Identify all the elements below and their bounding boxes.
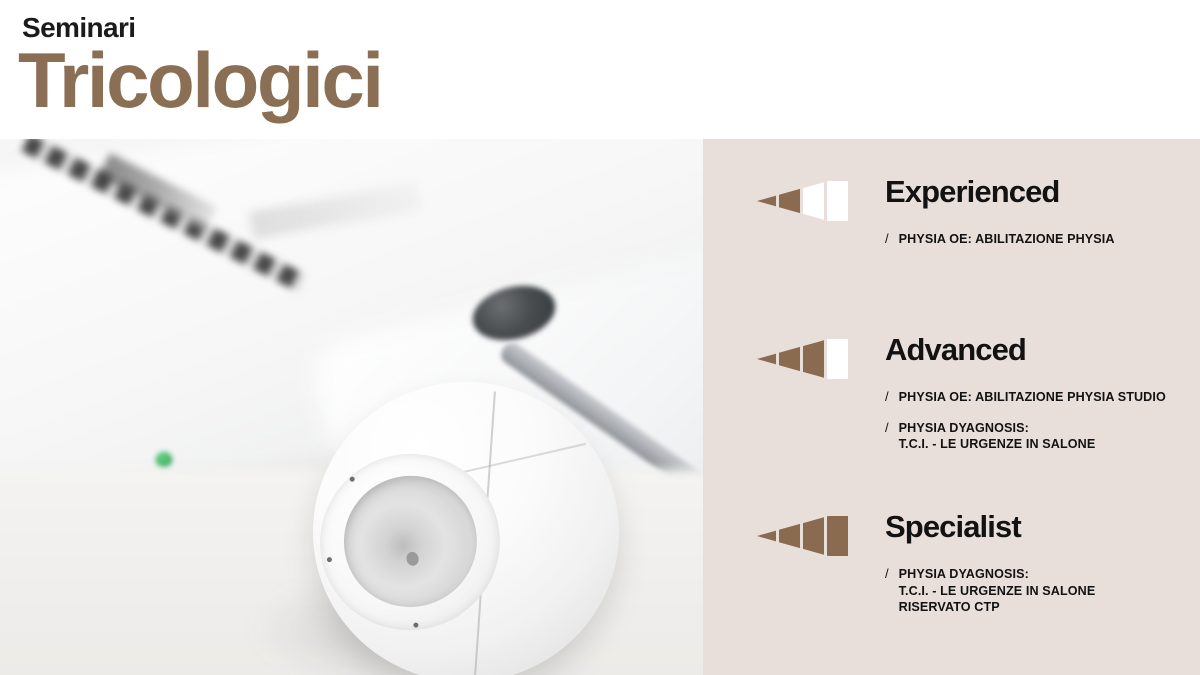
- level-title: Experienced: [885, 175, 1059, 209]
- level-block-specialist: Specialist / PHYSIA DYAGNOSIS: T.C.I. - …: [703, 514, 1200, 560]
- level-title: Specialist: [885, 510, 1021, 544]
- item-bullet: /: [885, 420, 889, 436]
- levels-panel: Experienced / PHYSIA OE: ABILITAZIONE PH…: [703, 139, 1200, 675]
- bezel-screw: [413, 622, 419, 628]
- product-photo: [0, 139, 703, 675]
- item-line: PHYSIA DYAGNOSIS:: [899, 420, 1096, 437]
- item-line: T.C.I. - LE URGENZE IN SALONE: [899, 583, 1096, 600]
- item-text: PHYSIA OE: ABILITAZIONE PHYSIA: [899, 231, 1115, 248]
- item-line: T.C.I. - LE URGENZE IN SALONE: [899, 436, 1096, 453]
- level-block-advanced: Advanced / PHYSIA OE: ABILITAZIONE PHYSI…: [703, 337, 1200, 383]
- item-text: PHYSIA DYAGNOSIS: T.C.I. - LE URGENZE IN…: [899, 420, 1096, 453]
- item-line: PHYSIA OE: ABILITAZIONE PHYSIA STUDIO: [899, 389, 1166, 406]
- item-text: PHYSIA OE: ABILITAZIONE PHYSIA STUDIO: [899, 389, 1166, 406]
- level-item-list: / PHYSIA OE: ABILITAZIONE PHYSIA: [885, 231, 1195, 262]
- list-item: / PHYSIA OE: ABILITAZIONE PHYSIA STUDIO: [885, 389, 1195, 406]
- lens-center-dot: [405, 551, 420, 567]
- level-header: Experienced: [703, 179, 1200, 225]
- level-title: Advanced: [885, 333, 1026, 367]
- item-line: PHYSIA DYAGNOSIS:: [899, 566, 1096, 583]
- level-arrow-icon: [757, 339, 849, 379]
- level-header: Specialist: [703, 514, 1200, 560]
- device-status-led: [156, 452, 172, 468]
- item-line: PHYSIA OE: ABILITAZIONE PHYSIA: [899, 231, 1115, 248]
- bezel-screw: [326, 557, 332, 563]
- list-item: / PHYSIA OE: ABILITAZIONE PHYSIA: [885, 231, 1195, 248]
- list-item: / PHYSIA DYAGNOSIS: T.C.I. - LE URGENZE …: [885, 566, 1195, 616]
- level-item-list: / PHYSIA OE: ABILITAZIONE PHYSIA STUDIO …: [885, 389, 1195, 467]
- list-item: / PHYSIA DYAGNOSIS: T.C.I. - LE URGENZE …: [885, 420, 1195, 453]
- page-title: Tricologici: [18, 44, 1200, 117]
- sphere-lens: [332, 464, 489, 620]
- handpiece-sphere: [313, 382, 619, 675]
- level-item-list: / PHYSIA DYAGNOSIS: T.C.I. - LE URGENZE …: [885, 566, 1195, 630]
- level-arrow-icon: [757, 516, 849, 556]
- bezel-screw: [349, 476, 355, 482]
- item-bullet: /: [885, 231, 889, 247]
- level-header: Advanced: [703, 337, 1200, 383]
- item-line: RISERVATO CTP: [899, 599, 1096, 616]
- level-arrow-icon: [757, 181, 849, 221]
- slide-root: Seminari Tricologici: [0, 0, 1200, 675]
- item-bullet: /: [885, 566, 889, 582]
- item-bullet: /: [885, 389, 889, 405]
- item-text: PHYSIA DYAGNOSIS: T.C.I. - LE URGENZE IN…: [899, 566, 1096, 616]
- level-block-experienced: Experienced / PHYSIA OE: ABILITAZIONE PH…: [703, 179, 1200, 225]
- slide-header: Seminari Tricologici: [0, 0, 1200, 139]
